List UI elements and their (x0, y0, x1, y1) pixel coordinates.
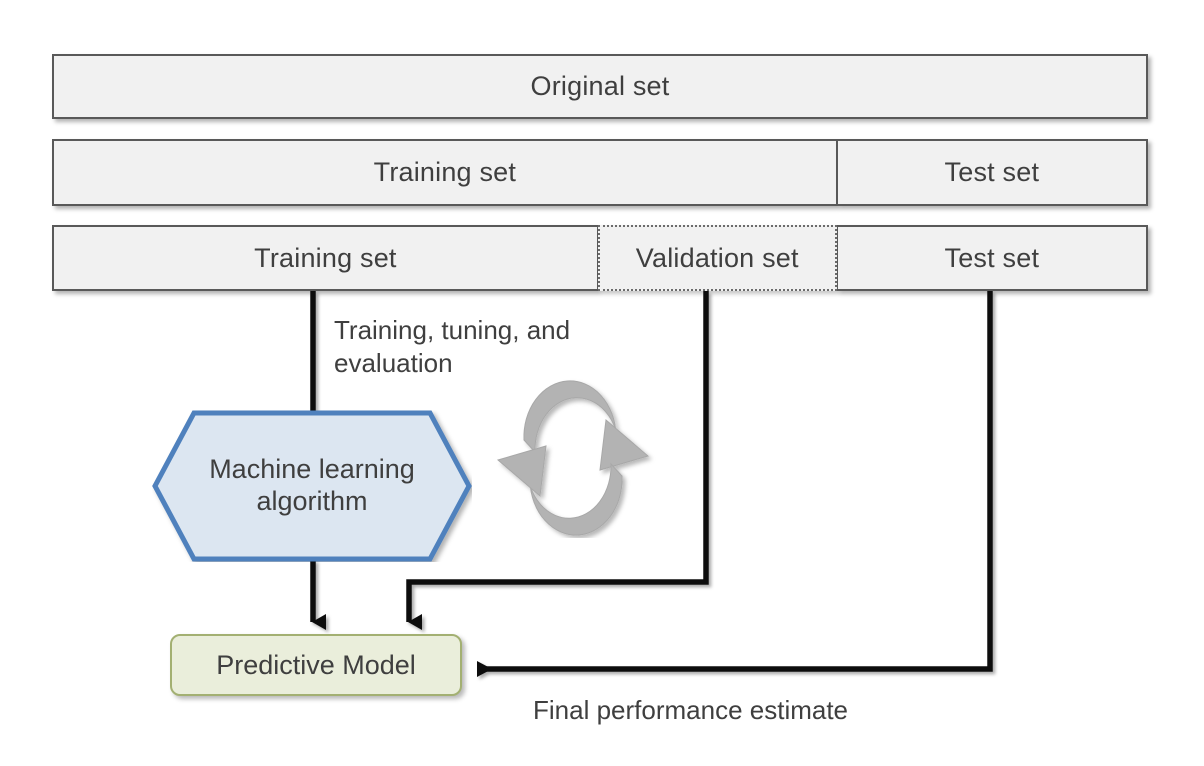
cycle-arrows-icon (488, 378, 658, 538)
dataset-row-original: Original set (52, 54, 1148, 119)
hexagon-shape (152, 410, 472, 562)
algorithm-node[interactable]: Machine learning algorithm (152, 410, 472, 562)
segment-label: Training set (374, 157, 516, 188)
diagram-canvas: Original set Training set Test set Train… (0, 0, 1204, 766)
segment-label: Original set (531, 71, 670, 102)
final-performance-label: Final performance estimate (533, 694, 1003, 727)
segment-test-set-row3[interactable]: Test set (837, 225, 1148, 291)
segment-label: Test set (945, 243, 1040, 274)
segment-training-set-row3[interactable]: Training set (52, 225, 598, 291)
segment-original-set[interactable]: Original set (52, 54, 1148, 119)
segment-label: Training set (254, 243, 396, 274)
segment-validation-set[interactable]: Validation set (598, 225, 837, 291)
segment-label: Test set (945, 157, 1040, 188)
training-tuning-label: Training, tuning, and evaluation (334, 314, 664, 381)
segment-label: Validation set (636, 243, 799, 274)
dataset-row-train-test: Training set Test set (52, 139, 1148, 206)
predictive-model-label: Predictive Model (216, 650, 416, 681)
dataset-row-train-validation-test: Training set Validation set Test set (52, 225, 1148, 291)
predictive-model-node[interactable]: Predictive Model (170, 634, 462, 696)
segment-test-set-row2[interactable]: Test set (837, 139, 1148, 206)
segment-training-set-row2[interactable]: Training set (52, 139, 837, 206)
